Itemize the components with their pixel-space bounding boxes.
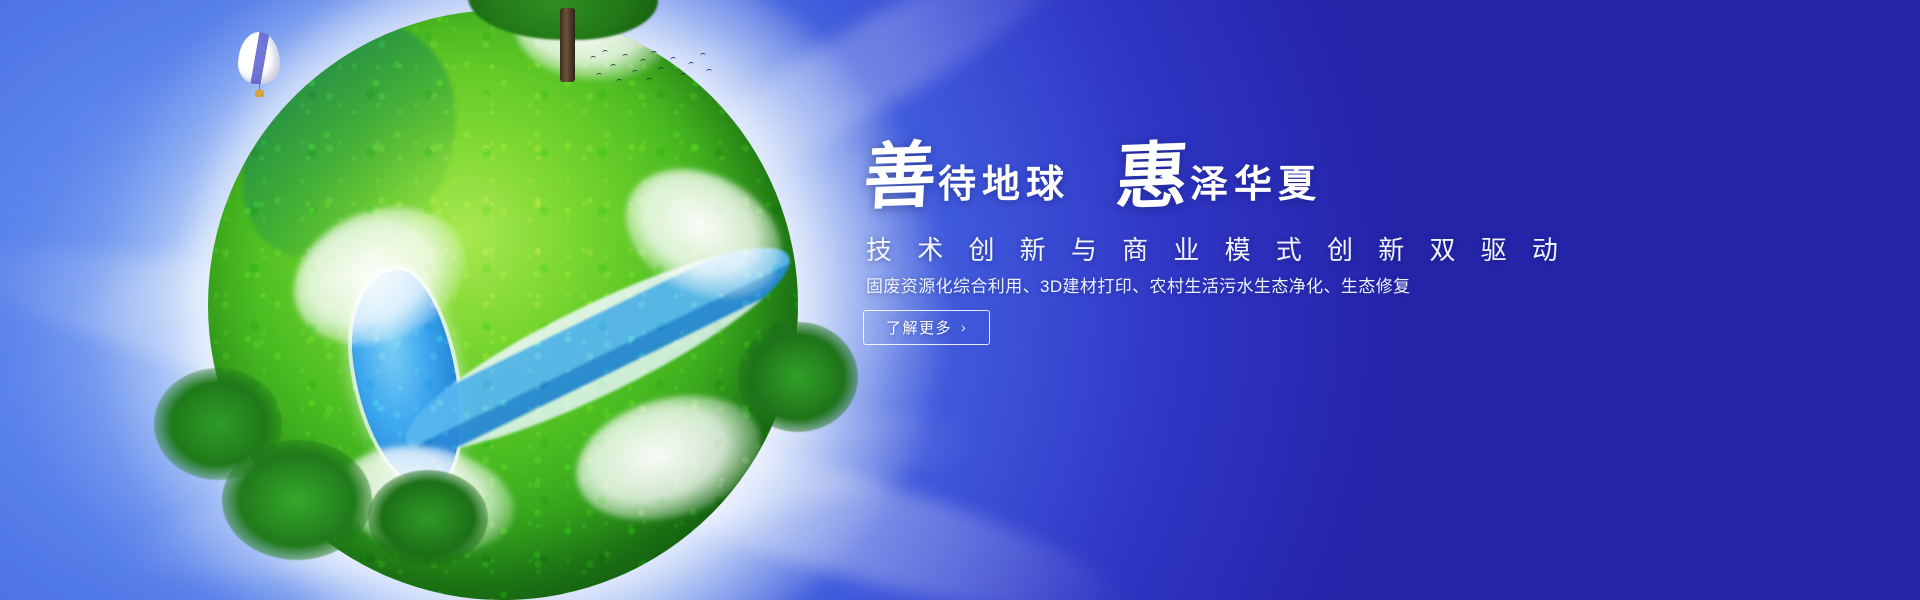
lake <box>341 264 471 494</box>
headline-char-hui: 惠 <box>1114 139 1190 213</box>
page-subtitle: 技 术 创 新 与 商 业 模 式 创 新 双 驱 动 <box>866 230 1567 267</box>
tree-silhouette <box>738 322 858 432</box>
bird-flock-icon <box>588 48 718 90</box>
balloon-basket <box>255 90 264 97</box>
tree-trunk <box>560 8 575 82</box>
headline-text-daidiqiu: 待地球 <box>938 165 1070 203</box>
hero-banner: 善待地球惠泽华夏 技 术 创 新 与 商 业 模 式 创 新 双 驱 动 固废资… <box>0 0 1920 600</box>
planet-cloud <box>273 182 486 369</box>
headline-char-shan: 善 <box>862 139 938 213</box>
balloon-envelope <box>238 32 280 84</box>
hot-air-balloon-icon <box>238 32 280 102</box>
learn-more-label: 了解更多 <box>886 317 952 338</box>
learn-more-button[interactable]: 了解更多 › <box>863 310 990 345</box>
page-title: 善待地球惠泽华夏 <box>864 140 1464 226</box>
headline-text-zehuaxia: 泽华夏 <box>1190 165 1322 203</box>
river <box>387 216 798 482</box>
hero-copy: 善待地球惠泽华夏 技 术 创 新 与 商 业 模 式 创 新 双 驱 动 固废资… <box>858 0 1858 600</box>
tree-silhouette <box>222 440 372 560</box>
chevron-right-icon: › <box>961 320 967 334</box>
page-description: 固废资源化综合利用、3D建材打印、农村生活污水生态净化、生态修复 <box>866 272 1411 297</box>
tree-silhouette <box>368 470 488 566</box>
